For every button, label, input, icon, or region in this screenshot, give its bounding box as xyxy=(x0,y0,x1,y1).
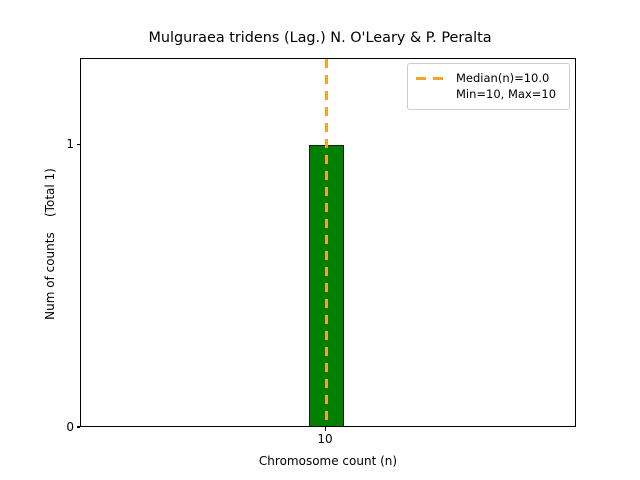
legend-label-median: Median(n)=10.0 xyxy=(456,70,556,86)
y-axis-label-main: Num of counts xyxy=(43,232,57,320)
y-axis-tick-label-1: 1 xyxy=(52,138,74,150)
plot-area xyxy=(80,58,576,427)
dashed-line-icon xyxy=(416,77,450,80)
median-reference-line xyxy=(325,59,328,427)
legend-label-minmax: Min=10, Max=10 xyxy=(456,86,556,102)
y-axis-label: Num of counts (Total 1) xyxy=(43,168,57,320)
x-axis-tick-label-10: 10 xyxy=(305,433,345,446)
chart-figure: Mulguraea tridens (Lag.) N. O'Leary & P.… xyxy=(0,0,640,480)
legend-text-block: Median(n)=10.0 Min=10, Max=10 xyxy=(456,70,556,102)
legend-dashed-line-icon xyxy=(416,71,450,86)
chart-legend[interactable]: Median(n)=10.0 Min=10, Max=10 xyxy=(407,63,570,110)
x-axis-label: Chromosome count (n) xyxy=(80,454,576,468)
y-axis-label-container: Num of counts (Total 1) xyxy=(35,84,65,404)
y-axis-label-total: (Total 1) xyxy=(43,168,57,217)
x-axis-tick-mark-10 xyxy=(325,427,326,431)
y-axis-tick-label-0: 0 xyxy=(52,421,74,433)
page-title: Mulguraea tridens (Lag.) N. O'Leary & P.… xyxy=(0,30,640,47)
